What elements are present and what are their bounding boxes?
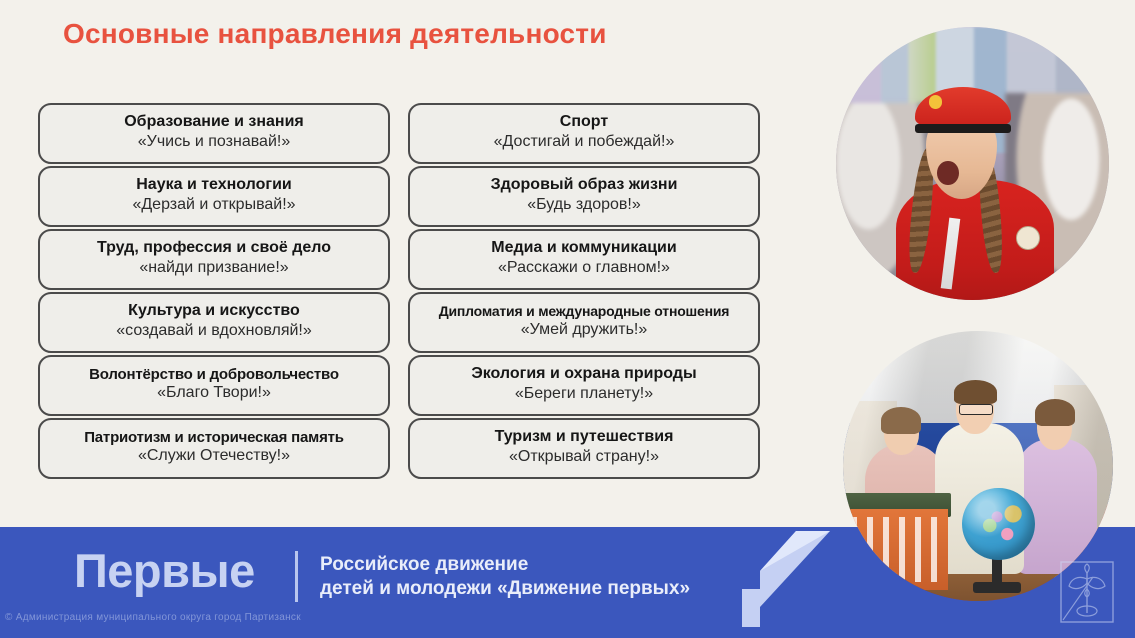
direction-card-title: Туризм и путешествия <box>495 428 674 447</box>
brand-name: Первые <box>74 547 255 594</box>
direction-card-motto: «Дерзай и открывай!» <box>132 196 295 215</box>
direction-card-title: Дипломатия и международные отношения <box>439 303 730 320</box>
globe-base <box>973 582 1022 593</box>
direction-card-title: Патриотизм и историческая память <box>84 429 344 447</box>
direction-card-motto: «Открывай страну!» <box>509 448 659 467</box>
direction-card-diplomacy[interactable]: Дипломатия и международные отношения «Ум… <box>408 292 760 353</box>
direction-card-patriotism[interactable]: Патриотизм и историческая память «Служи … <box>38 418 390 479</box>
photo-scene <box>836 27 1109 300</box>
direction-card-title: Образование и знания <box>124 113 304 132</box>
direction-card-volunteering[interactable]: Волонтёрство и добровольчество «Благо Тв… <box>38 355 390 416</box>
brand-tagline-line-2: детей и молодежи «Движение первых» <box>320 577 690 601</box>
direction-card-education[interactable]: Образование и знания «Учись и познавай!» <box>38 103 390 164</box>
directions-grid: Образование и знания «Учись и познавай!»… <box>38 103 760 479</box>
direction-card-title: Наука и технологии <box>136 176 292 195</box>
child-right-hair <box>1035 399 1076 426</box>
direction-card-title: Здоровый образ жизни <box>491 176 678 195</box>
direction-card-science[interactable]: Наука и технологии «Дерзай и открывай!» <box>38 166 390 227</box>
girl-in-red-beret-photo <box>836 27 1109 300</box>
direction-card-motto: «Расскажи о главном!» <box>498 259 670 278</box>
direction-card-motto: «создавай и вдохновляй!» <box>116 322 312 341</box>
direction-card-motto: «Служи Отечеству!» <box>138 447 290 466</box>
globe-icon <box>962 488 1035 561</box>
direction-card-motto: «Умей дружить!» <box>521 321 648 340</box>
page-title: Основные направления деятельности <box>63 18 607 50</box>
direction-card-culture[interactable]: Культура и искусство «создавай и вдохнов… <box>38 292 390 353</box>
presentation-slide: Основные направления деятельности Образо… <box>0 0 1135 638</box>
beret-band <box>915 124 1011 134</box>
direction-card-motto: «Учись и познавай!» <box>138 133 290 152</box>
child-center-hair <box>954 380 997 404</box>
school-model-windows <box>851 517 943 582</box>
direction-card-motto: «найди призвание!» <box>139 259 288 278</box>
direction-card-title: Волонтёрство и добровольчество <box>89 366 339 384</box>
direction-card-tourism[interactable]: Туризм и путешествия «Открывай страну!» <box>408 418 760 479</box>
direction-card-motto: «Будь здоров!» <box>527 196 641 215</box>
direction-card-title: Труд, профессия и своё дело <box>97 239 331 258</box>
shoulder-patch <box>1016 226 1040 250</box>
direction-card-motto: «Береги планету!» <box>515 385 653 404</box>
child-left-hair <box>881 407 922 434</box>
watermark-text: © Администрация муниципального округа го… <box>5 612 301 623</box>
direction-card-healthy-lifestyle[interactable]: Здоровый образ жизни «Будь здоров!» <box>408 166 760 227</box>
brand-tagline-line-1: Российское движение <box>320 553 690 577</box>
direction-card-title: Медиа и коммуникации <box>491 239 676 258</box>
direction-card-motto: «Благо Твори!» <box>157 384 271 403</box>
direction-card-sport[interactable]: Спорт «Достигай и побеждай!» <box>408 103 760 164</box>
direction-card-title: Экология и охрана природы <box>471 365 696 384</box>
direction-card-ecology[interactable]: Экология и охрана природы «Береги планет… <box>408 355 760 416</box>
direction-card-labour[interactable]: Труд, профессия и своё дело «найди призв… <box>38 229 390 290</box>
direction-card-motto: «Достигай и побеждай!» <box>494 133 675 152</box>
direction-card-media[interactable]: Медиа и коммуникации «Расскажи о главном… <box>408 229 760 290</box>
mouth <box>937 161 959 186</box>
direction-card-title: Культура и искусство <box>128 302 300 321</box>
brand-divider <box>295 551 298 602</box>
glasses-icon <box>959 404 993 415</box>
direction-card-title: Спорт <box>560 113 608 132</box>
coat-of-arms-icon <box>1058 559 1116 625</box>
brand-tagline: Российское движение детей и молодежи «Дв… <box>320 553 690 600</box>
arrow-up-right-icon <box>738 527 842 627</box>
